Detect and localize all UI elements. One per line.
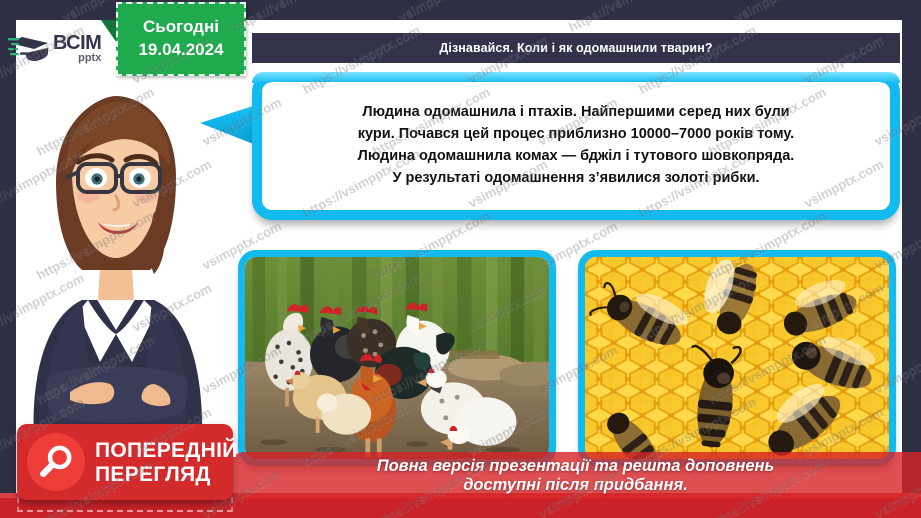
preview-badge[interactable]: ПОПЕРЕДНІЙ ПЕРЕГЛЯД [17,424,233,500]
brand-logo: ВСІМ pptx [8,26,120,72]
magnifier-icon [27,433,85,491]
preview-badge-dash [17,498,233,512]
chickens-photo [238,250,556,466]
brand-sub: pptx [53,53,101,64]
bees-photo-image [585,257,889,459]
page-title: Дізнавайся. Коли і як одомашнили тварин? [439,41,712,55]
today-label: Сьогодні [143,16,219,39]
bees-honeycomb-photo [578,250,896,466]
chickens-photo-image [245,257,549,459]
lesson-text-line-3: Людина одомашнила комах — бджіл і тутово… [358,145,795,167]
promo-banner: Повна версія презентації та решта доповн… [230,452,921,500]
today-date-badge: Сьогодні 19.04.2024 [116,2,246,76]
brand-text: ВСІМ pptx [53,34,101,64]
speech-bubble: Людина одомашнила і птахів. Найпершими с… [252,72,900,220]
lesson-text-line-1: Людина одомашнила і птахів. Найпершими с… [358,101,795,123]
lesson-text-line-4: У результаті одомашнення з’явилися золот… [358,167,795,189]
promo-line-1: Повна версія презентації та решта доповн… [377,457,775,476]
lesson-text: Людина одомашнила і птахів. Найпершими с… [358,101,795,189]
brand-name: ВСІМ [53,32,101,54]
lesson-text-line-2: кури. Почався цей процес приблизно 10000… [358,123,795,145]
slide-title-bar: Дізнавайся. Коли і як одомашнили тварин? [252,33,900,63]
cartoon-teacher-illustration [4,62,226,442]
promo-line-2: доступні після придбання. [463,476,688,495]
presentation-slide: ВСІМ pptx Сьогодні 19.04.2024 Дізнавайся… [0,0,921,518]
graduation-cap-icon [8,29,52,69]
preview-label-line-2: ПЕРЕГЛЯД [95,464,238,485]
preview-label-line-1: ПОПЕРЕДНІЙ [95,440,238,461]
speech-bubble-body: Людина одомашнила і птахів. Найпершими с… [262,82,890,210]
today-date: 19.04.2024 [138,39,223,62]
preview-badge-labels: ПОПЕРЕДНІЙ ПЕРЕГЛЯД [95,440,238,485]
